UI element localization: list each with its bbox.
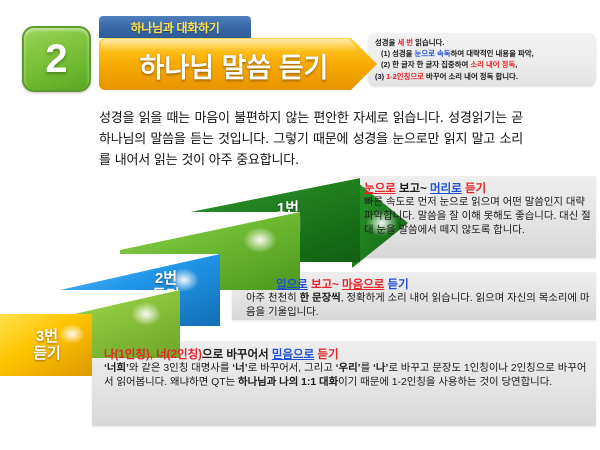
panel-2-title-part-1: 입으로 [276, 279, 308, 291]
panel-1-title: 눈으로 보고~ 머리로 듣기 [364, 180, 486, 196]
note-line-3: (2) 한 글자 한 글자 집중하여 소리 내어 정독, [375, 59, 591, 70]
step-3-label: 3번 듣기 [16, 328, 78, 362]
panel-3-body-4: 로 바꾸어서, 그리고 [248, 363, 336, 374]
note-line-2-b-blue: 눈으로 속독 [415, 49, 451, 58]
panel-3-body-7: ‘나’ [373, 363, 388, 374]
section-number-value: 2 [45, 39, 67, 79]
note-line-1: 성경을 세 번 읽습니다. [375, 37, 591, 48]
note-line-1-c: 읽습니다. [413, 38, 444, 47]
panel-2-title-part-2: 보고~ [308, 279, 342, 291]
note-line-4-c: 바꾸어 소리 내어 정독 합니다. [424, 72, 518, 81]
panel-3-body-3: ‘너’ [232, 363, 247, 374]
note-line-3-b: 소리 내어 정독 [470, 60, 515, 69]
panel-3-body-2: 와 같은 3인칭 대명사를 [129, 363, 232, 374]
slide-canvas: 1번 듣기 [0, 0, 600, 450]
note-line-3-a: (2) 한 글자 한 글자 집중하여 [381, 60, 470, 69]
section-number-badge: 2 [22, 26, 91, 92]
page-title: 하나님 말씀 듣기 [118, 44, 350, 86]
panel-3-body-6: 를 [361, 363, 373, 374]
panel-3-body-1: ‘너희’ [104, 363, 129, 374]
note-line-3-c: , [515, 60, 517, 69]
note-line-1-b: 세 번 [397, 38, 413, 47]
panel-2-title: 입으로 보고~ 마음으로 듣기 [276, 276, 409, 292]
panel-2-body: 아주 천천히 한 문장씩, 정확하게 소리 내어 읽습니다. 읽으며 자신의 목… [246, 292, 592, 320]
panel-2-title-part-4: 듣기 [384, 279, 408, 291]
panel-3-body-9: 하나님과 나의 1:1 대화 [238, 377, 338, 388]
summary-note-box: 성경을 세 번 읽습니다. (1) 성경을 눈으로 속독하여 대략적인 내용을 … [368, 33, 596, 86]
panel-2-body-b: 한 문장씩 [300, 293, 341, 304]
note-line-4-b: 1-2인칭으로 [386, 72, 424, 81]
note-line-2-c: 하여 대략적인 내용을 파악, [451, 49, 534, 58]
step-2-label-line1: 2번 [155, 270, 177, 287]
section-ribbon: 하나님과 대화하기 [99, 16, 251, 38]
panel-1-title-part-3: 머리로 [430, 183, 462, 195]
panel-2-title-part-3: 마음으로 [342, 279, 384, 291]
intro-paragraph: 성경을 읽을 때는 마음이 불편하지 않는 편안한 자세로 읽습니다. 성경읽기… [99, 108, 523, 171]
note-line-2-a: (1) 성경을 [381, 49, 415, 58]
panel-3-body-5: ‘우리’ [336, 363, 361, 374]
panel-1-title-part-4: 듣기 [462, 183, 486, 195]
step-3-label-line1: 3번 [36, 328, 58, 345]
panel-3-title-part-4: 듣기 [314, 349, 338, 361]
panel-1-title-part-1: 눈으로 [364, 183, 396, 195]
step-3-label-line2: 듣기 [33, 345, 61, 362]
note-line-2: (1) 성경을 눈으로 속독하여 대략적인 내용을 파악, [375, 48, 591, 59]
panel-1-title-part-2: 보고~ [396, 183, 430, 195]
note-line-4: (3) 1-2인칭으로 바꾸어 소리 내어 정독 합니다. [375, 71, 591, 82]
panel-3-title-part-2: 으로 바꾸어서 [202, 349, 272, 361]
panel-3-title-part-3: 믿음으로 [272, 349, 314, 361]
step-5-block: 3번 듣기 [0, 314, 92, 376]
panel-3-body: ‘너희’와 같은 3인칭 대명사를 ‘너’로 바꾸어서, 그리고 ‘우리’를 ‘… [104, 362, 590, 390]
panel-2-body-a: 아주 천천히 [246, 293, 300, 304]
panel-3-body-10: 이기 때문에 1-2인칭을 사용하는 것이 당연합니다. [338, 377, 552, 388]
panel-1-body: 빠른 속도로 먼저 눈으로 읽으며 어떤 말씀인지 대략 파악합니다. 말씀을 … [364, 196, 592, 238]
panel-3-title-part-1: 나(1인칭), 너(2인칭) [104, 349, 202, 361]
panel-3-title: 나(1인칭), 너(2인칭)으로 바꾸어서 믿음으로 듣기 [104, 346, 339, 362]
